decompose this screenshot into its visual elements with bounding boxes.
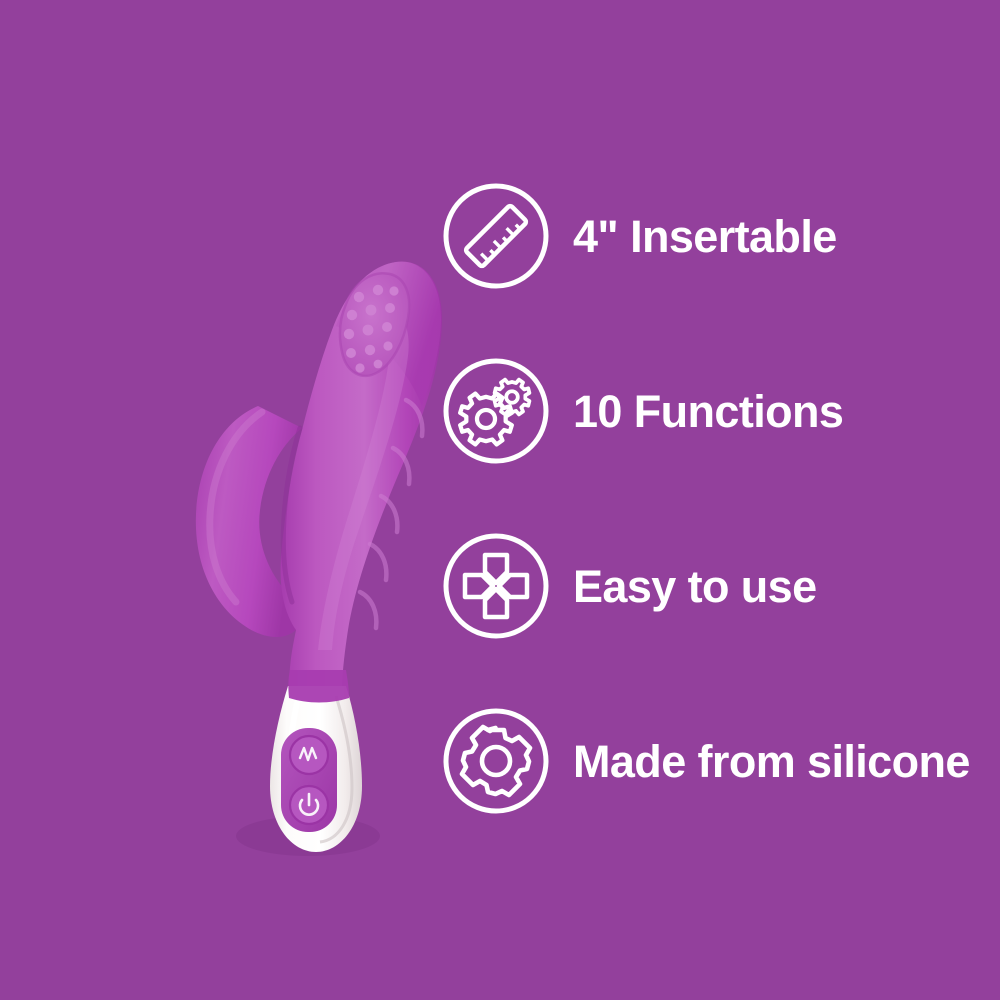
feature-row: Made from silicone xyxy=(436,701,996,821)
gears-icon xyxy=(436,351,556,471)
ruler-icon xyxy=(436,176,556,296)
ruler-icon-badge xyxy=(436,176,556,296)
feature-label: Made from silicone xyxy=(573,739,996,784)
power-button[interactable] xyxy=(290,786,328,824)
product-image xyxy=(150,110,450,870)
gears-icon-badge xyxy=(436,351,556,471)
gear-icon-badge xyxy=(436,701,556,821)
feature-row: Easy to use xyxy=(436,526,996,646)
dpad-icon xyxy=(436,526,556,646)
feature-label: Easy to use xyxy=(573,564,996,609)
dpad-icon-badge xyxy=(436,526,556,646)
feature-list: 4" Insertable 10 xyxy=(436,176,996,821)
feature-row: 10 Functions xyxy=(436,351,996,471)
feature-label: 4" Insertable xyxy=(573,214,996,259)
feature-label: 10 Functions xyxy=(573,389,996,434)
gear-icon xyxy=(436,701,556,821)
mode-button[interactable] xyxy=(290,736,328,774)
infographic-canvas: 4" Insertable 10 xyxy=(0,0,1000,1000)
feature-row: 4" Insertable xyxy=(436,176,996,296)
